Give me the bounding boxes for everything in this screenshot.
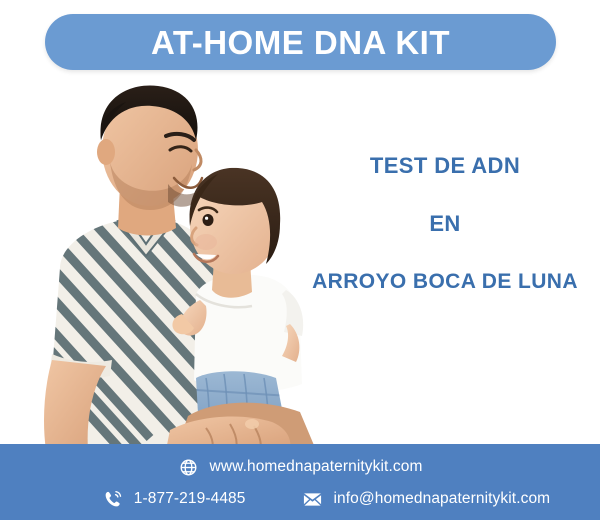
phone-number: 1-877-219-4485 (134, 490, 246, 508)
email-contact[interactable]: info@homednapaternitykit.com (302, 488, 551, 510)
footer-website-row: www.homednapaternitykit.com (0, 456, 600, 478)
globe-icon (178, 456, 200, 478)
headline-line-2: EN (300, 213, 590, 235)
header-banner: AT-HOME DNA KIT (45, 14, 556, 70)
promotional-poster: AT-HOME DNA KIT (0, 0, 600, 520)
father-and-child-photo (0, 78, 330, 450)
footer-phone-email-row: 1-877-219-4485 info@homednapaternitykit.… (0, 488, 600, 510)
website-url: www.homednapaternitykit.com (210, 458, 423, 476)
envelope-icon (302, 488, 324, 510)
page-title: AT-HOME DNA KIT (151, 26, 450, 59)
email-address: info@homednapaternitykit.com (334, 490, 551, 508)
location-headline: TEST DE ADN EN ARROYO BOCA DE LUNA (300, 155, 590, 292)
phone-contact[interactable]: 1-877-219-4485 (102, 488, 246, 510)
phone-icon (102, 488, 124, 510)
website-contact[interactable]: www.homednapaternitykit.com (178, 456, 423, 478)
headline-line-1: TEST DE ADN (300, 155, 590, 177)
headline-line-3: ARROYO BOCA DE LUNA (300, 271, 590, 292)
footer-contact-bar: www.homednapaternitykit.com 1-877-219-44… (0, 444, 600, 520)
